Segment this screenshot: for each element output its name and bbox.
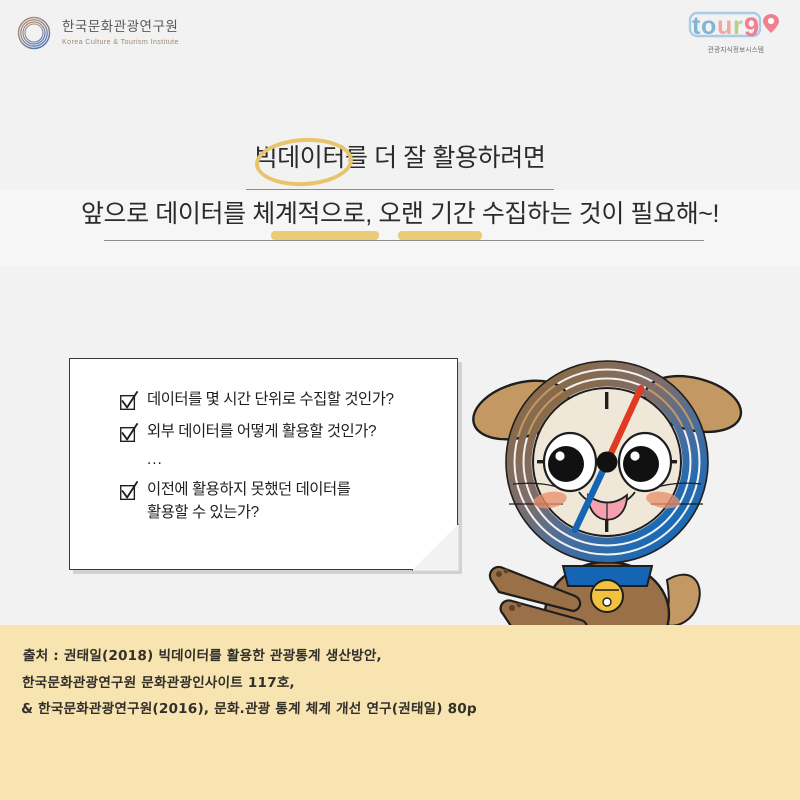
brush-circle-icon: [14, 13, 54, 53]
institute-name-en: Korea Culture & Tourism Institute: [62, 37, 179, 46]
checkbox-checked-icon: [118, 391, 138, 413]
source-footer: 출처 : 권태일(2018) 빅데이터를 활용한 관광통계 생산방안, 한국문화…: [0, 625, 800, 800]
title-line-1: 빅데이터를 더 잘 활용하려면: [249, 140, 552, 177]
checklist-item-label: 외부 데이터를 어떻게 활용할 것인가?: [147, 421, 376, 443]
svg-text:r: r: [733, 12, 743, 40]
checklist: 데이터를 몇 시간 단위로 수집할 것인가? 외부 데이터를 어떻게 활용할 것…: [118, 389, 448, 532]
svg-text:9: 9: [744, 12, 759, 42]
infographic-card: 한국문화관광연구원 Korea Culture & Tourism Instit…: [0, 0, 800, 800]
checklist-item-label: 데이터를 몇 시간 단위로 수집할 것인가?: [147, 389, 394, 411]
checklist-bubble: 데이터를 몇 시간 단위로 수집할 것인가? 외부 데이터를 어떻게 활용할 것…: [69, 358, 458, 570]
title-line-2: 앞으로 데이터를 체계적으로, 오랜 기간 수집하는 것이 필요해~!: [81, 198, 719, 232]
highlight-stroke-1: [271, 231, 379, 240]
title-line-2-wrap: 앞으로 데이터를 체계적으로, 오랜 기간 수집하는 것이 필요해~!: [0, 198, 800, 232]
title-line-1-wrap: 빅데이터를 더 잘 활용하려면: [0, 140, 800, 177]
title-underline-1: [246, 189, 554, 190]
tour-wordmark: t o u r 9: [684, 8, 788, 42]
checkbox-checked-icon: [118, 481, 138, 503]
source-citation: 출처 : 권태일(2018) 빅데이터를 활용한 관광통계 생산방안, 한국문화…: [21, 643, 764, 723]
list-item: 이전에 활용하지 못했던 데이터를 활용할 수 있는가?: [118, 479, 448, 524]
tour-logo-caption: 관광지식정보시스템: [684, 44, 788, 54]
svg-text:u: u: [717, 12, 732, 40]
institute-logo: 한국문화관광연구원 Korea Culture & Tourism Instit…: [14, 12, 194, 54]
title-underline-2: [104, 240, 704, 241]
list-item: 외부 데이터를 어떻게 활용할 것인가?: [118, 421, 448, 445]
tour-portal-logo[interactable]: t o u r 9 관광지식정보시스템: [684, 8, 788, 58]
location-pin-icon: [763, 14, 779, 33]
checklist-ellipsis: ...: [147, 451, 448, 469]
source-line-1: 출처 : 권태일(2018) 빅데이터를 활용한 관광통계 생산방안,: [22, 643, 763, 670]
clock-dog-character: [455, 352, 800, 652]
list-item: 데이터를 몇 시간 단위로 수집할 것인가?: [118, 389, 448, 413]
title-line-1-text: 빅데이터를 더 잘 활용하려면: [255, 144, 546, 172]
source-line-3: & 한국문화관광연구원(2016), 문화.관광 통계 체계 개선 연구(권태일…: [21, 696, 762, 723]
svg-text:t: t: [692, 12, 701, 40]
checkbox-checked-icon: [118, 423, 138, 445]
svg-text:o: o: [701, 12, 716, 40]
highlight-stroke-2: [398, 231, 482, 240]
checklist-item-label: 이전에 활용하지 못했던 데이터를 활용할 수 있는가?: [147, 479, 350, 524]
institute-name-kr: 한국문화관광연구원: [62, 20, 179, 35]
source-line-2: 한국문화관광연구원 문화관광인사이트 117호,: [22, 670, 763, 697]
